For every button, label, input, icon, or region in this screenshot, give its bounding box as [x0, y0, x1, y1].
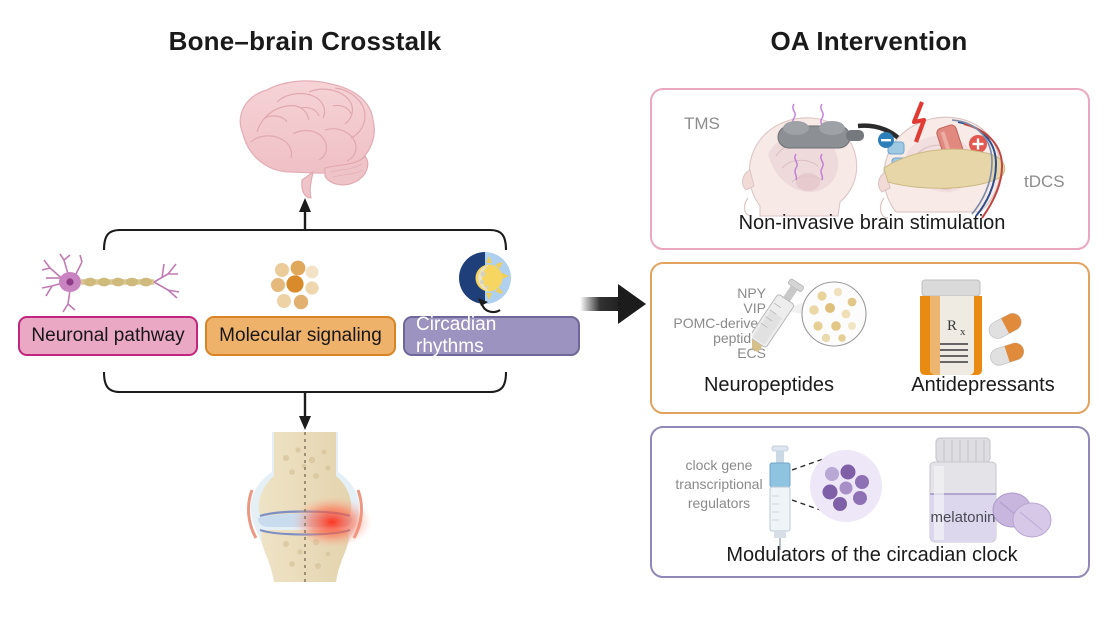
melatonin-bottle-icon: melatonin [908, 436, 1058, 546]
tms-label: TMS [684, 114, 720, 134]
intervention-panel-brain-stimulation[interactable]: TMS [650, 88, 1090, 250]
day-night-clock-icon [452, 248, 526, 320]
label-pomc: POMC-derived [660, 316, 766, 331]
melatonin-bottle-label: melatonin [930, 509, 995, 526]
circadian-molecule-labels: clock gene transcriptional regulators [664, 456, 774, 513]
rx-label: R [947, 318, 957, 334]
tdcs-label: tDCS [1024, 172, 1065, 192]
page-title-right: OA Intervention [640, 26, 1098, 57]
tdcs-electrode-head-icon [862, 94, 1022, 220]
label-npy: NPY [660, 286, 766, 301]
neuropeptide-labels: NPY VIP POMC-derived peptides ECS [660, 286, 766, 361]
bone-brain-crosstalk-column: Bone–brain Crosstalk [0, 0, 610, 626]
svg-text:x: x [960, 326, 966, 338]
pathway-chip-row: Neuronal pathway Molecular signaling Cir… [18, 316, 588, 358]
caption-neuropeptides: Neuropeptides [674, 374, 864, 397]
syringe-molecules-icon [752, 276, 867, 384]
bracket-upper-with-arrow [100, 196, 510, 254]
bracket-lower-with-arrow [100, 368, 510, 432]
pathway-chip-molecular-signaling[interactable]: Molecular signaling [205, 316, 396, 356]
knee-joint-illustration [228, 432, 383, 582]
label-vip: VIP [660, 301, 766, 316]
page-title-left: Bone–brain Crosstalk [0, 26, 610, 57]
caption-antidepressants: Antidepressants [878, 374, 1088, 397]
brain-illustration [205, 72, 405, 207]
label-peptides: peptides [660, 331, 766, 346]
caption-brain-stimulation: Non-invasive brain stimulation [652, 212, 1092, 235]
intervention-panel-neuropeptides[interactable]: NPY VIP POMC-derived peptides ECS [650, 262, 1090, 414]
pathway-chip-circadian-rhythms[interactable]: Circadian rhythms [403, 316, 580, 356]
syringe-clockgene-icon [760, 442, 885, 552]
label-clock-gene: clock gene [664, 456, 774, 475]
label-regulators: regulators [664, 494, 774, 513]
pill-bottle-capsules-icon: R x [900, 274, 1030, 378]
caption-circadian-modulators: Modulators of the circadian clock [652, 544, 1092, 567]
pathway-chip-neuronal-pathway[interactable]: Neuronal pathway [18, 316, 198, 356]
right-arrow [578, 278, 650, 330]
intervention-panel-circadian[interactable]: clock gene transcriptional regulators [650, 426, 1090, 578]
label-ecs: ECS [660, 346, 766, 361]
neuron-icon [36, 252, 206, 314]
label-transcriptional: transcriptional [664, 475, 774, 494]
molecule-cluster-icon [264, 258, 324, 314]
